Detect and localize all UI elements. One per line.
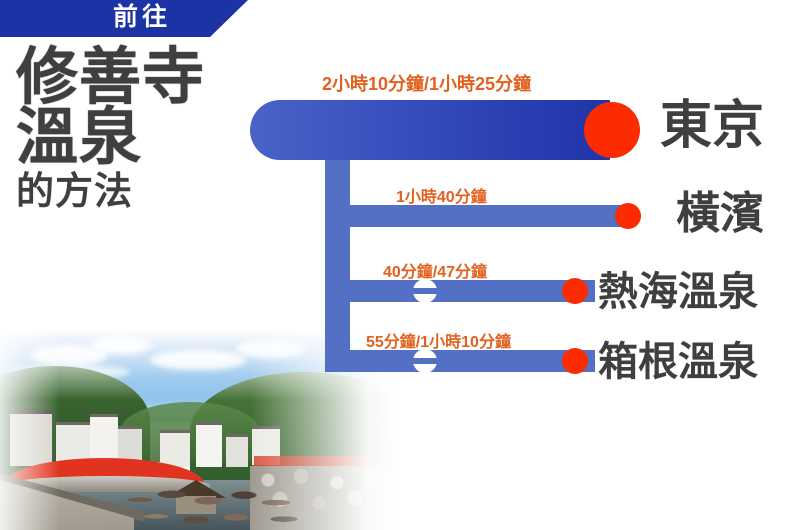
header-banner: 前往: [0, 0, 248, 37]
building: [196, 422, 222, 467]
title-line-2: 溫泉: [16, 108, 276, 168]
banner-label: 前往: [113, 5, 171, 30]
station-dot-atami: [562, 278, 588, 304]
route-bar-hakone[interactable]: [325, 350, 595, 372]
page-title: 修善寺 溫泉 的方法: [16, 48, 276, 217]
infographic-root: 前往 修善寺 溫泉 的方法 2小時10分鐘/1小時25分鐘 1小時40分鐘 40…: [0, 0, 800, 530]
route-bar-tokyo[interactable]: [250, 100, 610, 160]
destination-yokohama: 橫濱: [676, 192, 764, 236]
route-trunk: [325, 150, 350, 372]
route-bar-yokohama[interactable]: [325, 205, 625, 227]
title-line-1: 修善寺: [16, 48, 276, 108]
destination-tokyo: 東京: [660, 100, 764, 152]
route-bar-atami[interactable]: [325, 280, 595, 302]
duration-atami: 40分鐘/47分鐘: [383, 258, 487, 282]
photo-fade-left: [0, 330, 60, 530]
duration-hakone: 55分鐘/1小時10分鐘: [366, 328, 511, 352]
transfer-marker-icon: [413, 349, 437, 373]
building: [160, 430, 190, 467]
title-subtitle: 的方法: [16, 169, 276, 217]
building: [226, 434, 248, 467]
destination-hakone: 箱根溫泉: [598, 342, 758, 382]
station-dot-yokohama: [615, 203, 641, 229]
station-dot-hakone: [562, 348, 588, 374]
duration-yokohama: 1小時40分鐘: [396, 183, 487, 207]
transfer-marker-icon: [413, 279, 437, 303]
destination-atami: 熱海溫泉: [598, 272, 758, 312]
duration-tokyo: 2小時10分鐘/1小時25分鐘: [322, 70, 531, 96]
station-dot-tokyo: [584, 102, 640, 158]
